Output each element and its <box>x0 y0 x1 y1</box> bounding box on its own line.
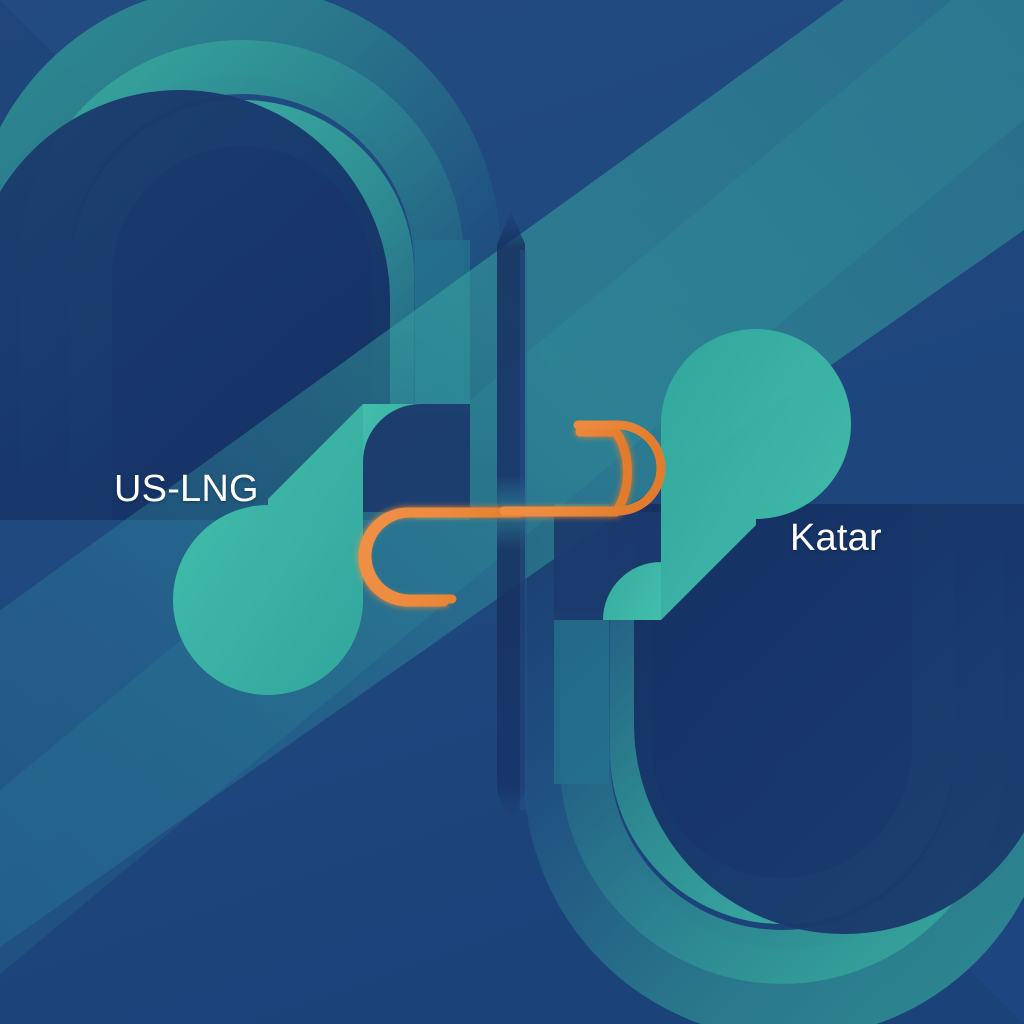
graphic-canvas: US-LNG Katar <box>0 0 1024 1024</box>
blade-highlight <box>520 250 527 810</box>
vertical-divider-blade <box>497 212 527 824</box>
abstract-interlock-illustration <box>0 0 1024 1024</box>
